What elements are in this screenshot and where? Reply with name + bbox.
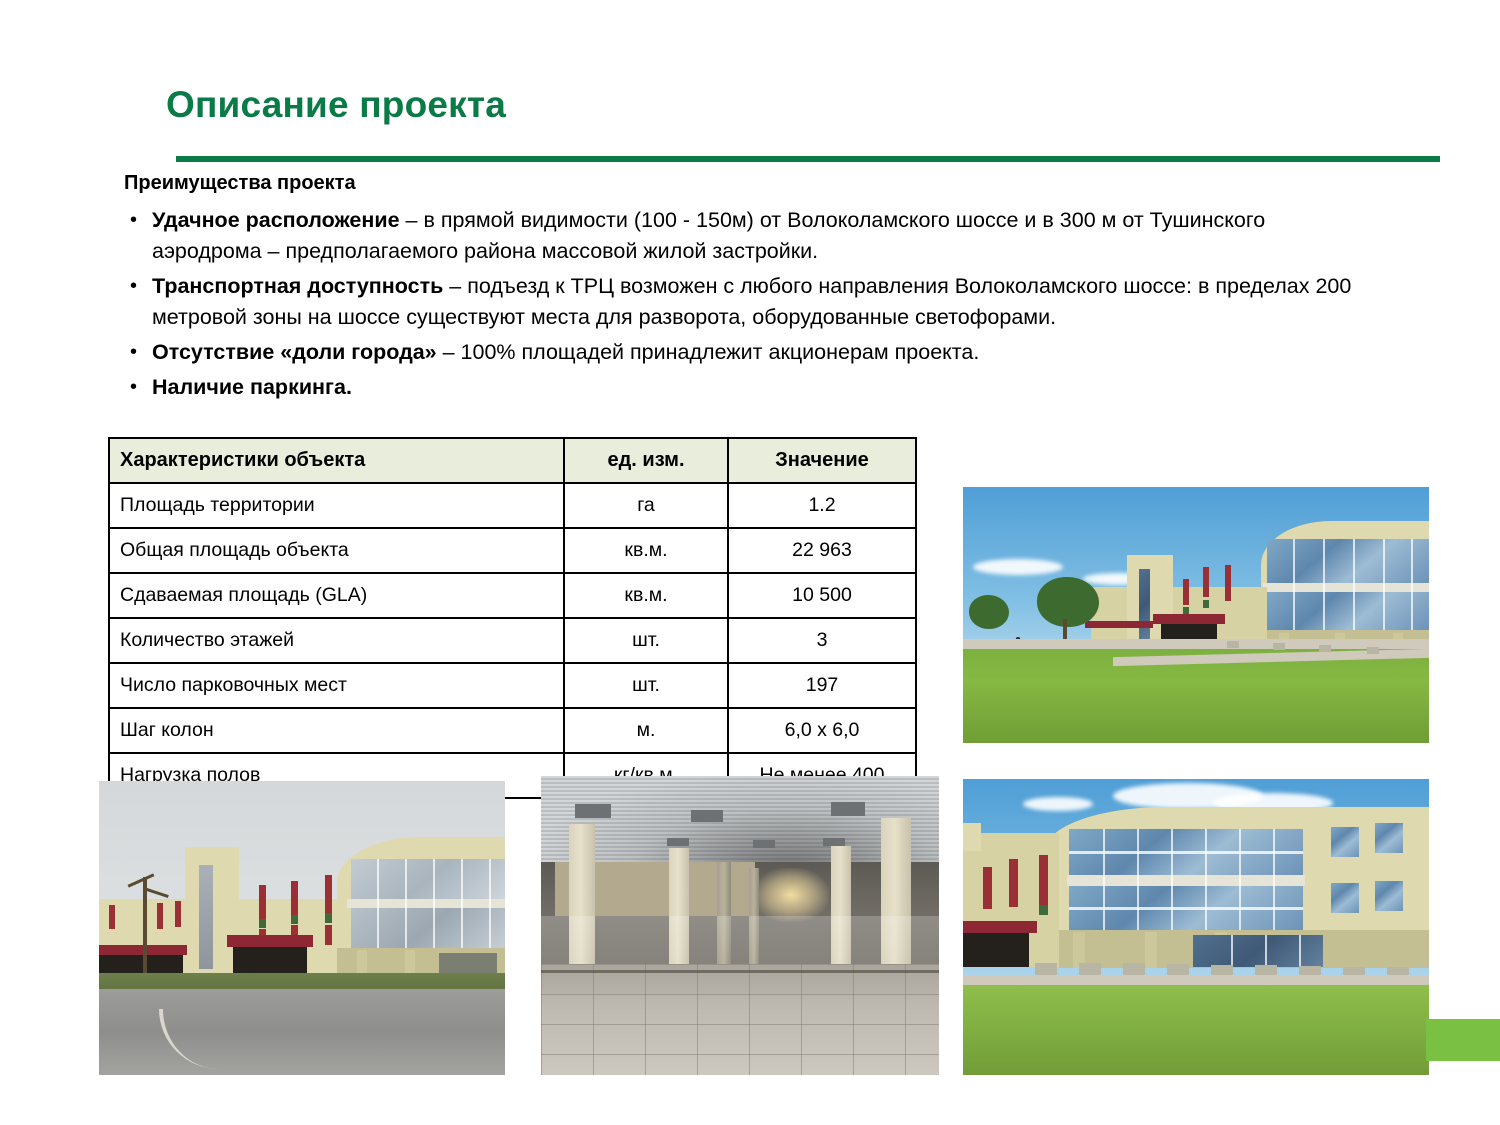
- ceiling-light: [753, 840, 775, 848]
- window-mullion: [1323, 539, 1325, 630]
- list-item-text: Транспортная доступность – подъезд к ТРЦ…: [152, 271, 1354, 333]
- list-item-text: Наличие паркинга.: [152, 372, 1354, 403]
- column-header-name: Характеристики объекта: [109, 438, 564, 483]
- cell-name: Общая площадь объекта: [109, 528, 564, 573]
- facade-accent-stripe: [1039, 905, 1048, 915]
- facade-accent-stripe: [259, 919, 266, 928]
- window-mullion: [1293, 539, 1295, 630]
- bullet-marker-icon: •: [124, 205, 152, 236]
- cell-name: Сдаваемая площадь (GLA): [109, 573, 564, 618]
- window-mullion: [1273, 829, 1275, 930]
- list-item-rest: – 100% площадей принадлежит акционерам п…: [437, 340, 980, 364]
- bollard: [1079, 963, 1101, 975]
- far-light-glow: [753, 868, 829, 922]
- cell-unit: шт.: [564, 618, 728, 663]
- cell-value: 3: [728, 618, 916, 663]
- entrance-canopy: [1153, 614, 1225, 624]
- facade-accent-stripe: [291, 915, 298, 924]
- floor-seam: [541, 970, 939, 973]
- facade-accent-stripe: [1039, 855, 1048, 905]
- facade-accent-stripe: [1203, 567, 1209, 597]
- cell-value: 10 500: [728, 573, 916, 618]
- bullet-marker-icon: •: [124, 271, 152, 302]
- bollard: [1367, 647, 1379, 654]
- ceiling-light: [831, 802, 865, 816]
- window-mullion: [1069, 851, 1303, 854]
- section-heading: Преимущества проекта: [124, 172, 356, 195]
- window-mullion: [1265, 935, 1267, 967]
- facade-band: [1263, 583, 1429, 592]
- window-mullion: [1231, 935, 1233, 967]
- ceiling-light: [667, 838, 689, 846]
- cell-value: 1.2: [728, 483, 916, 528]
- bullet-marker-icon: •: [124, 372, 152, 403]
- facade-accent-stripe: [175, 901, 181, 927]
- facade-accent-stripe: [291, 881, 298, 915]
- window: [1331, 827, 1359, 857]
- photo-interior-empty-hall: [541, 776, 939, 1075]
- cloud: [1023, 797, 1093, 811]
- list-item: • Транспортная доступность – подъезд к Т…: [124, 271, 1354, 333]
- bullet-marker-icon: •: [124, 337, 152, 368]
- glass-curtain-wall: [1267, 592, 1429, 630]
- table-row: Общая площадь объекта кв.м. 22 963: [109, 528, 916, 573]
- advantages-bullet-list: • Удачное расположение – в прямой видимо…: [124, 205, 1354, 407]
- entrance-opening: [963, 933, 1029, 967]
- table-header-row: Характеристики объекта ед. изм. Значение: [109, 438, 916, 483]
- table-row: Количество этажей шт. 3: [109, 618, 916, 663]
- cell-value: 197: [728, 663, 916, 708]
- ceiling-light: [575, 804, 611, 818]
- cell-unit: кв.м.: [564, 573, 728, 618]
- window-mullion: [405, 859, 407, 948]
- list-item-text: Отсутствие «доли города» – 100% площадей…: [152, 337, 1354, 368]
- table-row: Сдаваемая площадь (GLA) кв.м. 10 500: [109, 573, 916, 618]
- floor-tile-grid: [541, 964, 939, 1075]
- cell-name: Шаг колон: [109, 708, 564, 753]
- cell-unit: м.: [564, 708, 728, 753]
- facade-accent-stripe: [1225, 565, 1231, 601]
- glass-curtain-wall: [351, 908, 505, 948]
- tree-trunk: [143, 877, 147, 975]
- window-mullion: [1171, 829, 1173, 930]
- main-entrance-glazing: [1193, 935, 1323, 967]
- tree-trunk: [1063, 619, 1067, 641]
- facade-accent-stripe: [983, 867, 992, 909]
- glass-curtain-wall: [351, 859, 505, 901]
- facade-accent-stripe: [109, 905, 115, 929]
- cell-name: Число парковочных мест: [109, 663, 564, 708]
- window-mullion: [1239, 829, 1241, 930]
- facade-accent-stripe: [1183, 579, 1189, 605]
- table-row: Площадь территории га 1.2: [109, 483, 916, 528]
- photo-exterior-main-entrance: [963, 779, 1429, 1075]
- facade-accent-stripe: [1203, 600, 1209, 608]
- window-mullion: [489, 859, 491, 948]
- table-row: Число парковочных мест шт. 197: [109, 663, 916, 708]
- window-mullion: [377, 859, 379, 948]
- cell-name: Количество этажей: [109, 618, 564, 663]
- facade-band: [347, 899, 505, 908]
- bollard: [1123, 963, 1145, 975]
- support-column: [1145, 932, 1157, 968]
- facade-accent-stripe: [325, 925, 332, 945]
- cloud: [973, 559, 1063, 575]
- glass-curtain-wall: [1267, 539, 1429, 583]
- corner-accent-block: [1426, 1019, 1500, 1061]
- window-mullion: [1353, 539, 1355, 630]
- page-title: Описание проекта: [166, 84, 506, 126]
- facade-accent-stripe: [157, 903, 163, 929]
- cell-value: 6,0 х 6,0: [728, 708, 916, 753]
- window: [1375, 823, 1403, 853]
- facade-accent-stripe: [325, 913, 332, 923]
- floor-reflection: [541, 916, 939, 972]
- window-mullion: [1383, 539, 1385, 630]
- bollard: [1227, 641, 1239, 648]
- tree: [969, 595, 1009, 629]
- window-mullion: [1137, 829, 1139, 930]
- list-item: • Удачное расположение – в прямой видимо…: [124, 205, 1354, 267]
- window-mullion: [461, 859, 463, 948]
- title-underline-rule: [176, 156, 1440, 162]
- facade-accent-stripe: [259, 885, 266, 919]
- list-item-lead: Транспортная доступность: [152, 274, 443, 298]
- column-header-unit: ед. изм.: [564, 438, 728, 483]
- ceiling-light: [823, 838, 845, 846]
- table-row: Шаг колон м. 6,0 х 6,0: [109, 708, 916, 753]
- ceiling-perspective-shade: [541, 776, 939, 868]
- photo-exterior-sunny-side: [963, 487, 1429, 743]
- window: [1331, 883, 1359, 913]
- photo-exterior-overcast-road: [99, 781, 505, 1075]
- entrance-canopy: [963, 921, 1037, 933]
- cell-unit: га: [564, 483, 728, 528]
- ceiling-light: [691, 810, 723, 822]
- cell-value: 22 963: [728, 528, 916, 573]
- list-item-lead: Наличие паркинга.: [152, 375, 352, 399]
- column-header-value: Значение: [728, 438, 916, 483]
- window-mullion: [1299, 935, 1301, 967]
- list-item: • Наличие паркинга.: [124, 372, 1354, 403]
- window-mullion: [1069, 907, 1303, 910]
- window-mullion: [1205, 829, 1207, 930]
- lawn: [963, 985, 1429, 1075]
- entrance-canopy: [227, 935, 313, 947]
- stair-tower-glazing: [1139, 569, 1150, 641]
- list-item-lead: Удачное расположение: [152, 208, 400, 232]
- list-item: • Отсутствие «доли города» – 100% площад…: [124, 337, 1354, 368]
- window-mullion: [1103, 829, 1105, 930]
- window: [1375, 881, 1403, 911]
- list-item-text: Удачное расположение – в прямой видимост…: [152, 205, 1354, 267]
- bollard: [1035, 963, 1057, 975]
- building-left-tower: [963, 823, 981, 851]
- tree: [1037, 577, 1099, 627]
- object-characteristics-table: Характеристики объекта ед. изм. Значение…: [108, 437, 917, 799]
- cell-unit: кв.м.: [564, 528, 728, 573]
- window-mullion: [1411, 539, 1413, 630]
- cell-unit: шт.: [564, 663, 728, 708]
- entrance-canopy: [1085, 621, 1153, 628]
- facade-accent-stripe: [1009, 859, 1018, 907]
- cell-name: Площадь территории: [109, 483, 564, 528]
- bollard: [1319, 645, 1331, 652]
- list-item-lead: Отсутствие «доли города»: [152, 340, 437, 364]
- window-mullion: [433, 859, 435, 948]
- bollard: [1273, 643, 1285, 650]
- facade-accent-stripe: [325, 875, 332, 913]
- stair-tower-glazing: [199, 865, 213, 969]
